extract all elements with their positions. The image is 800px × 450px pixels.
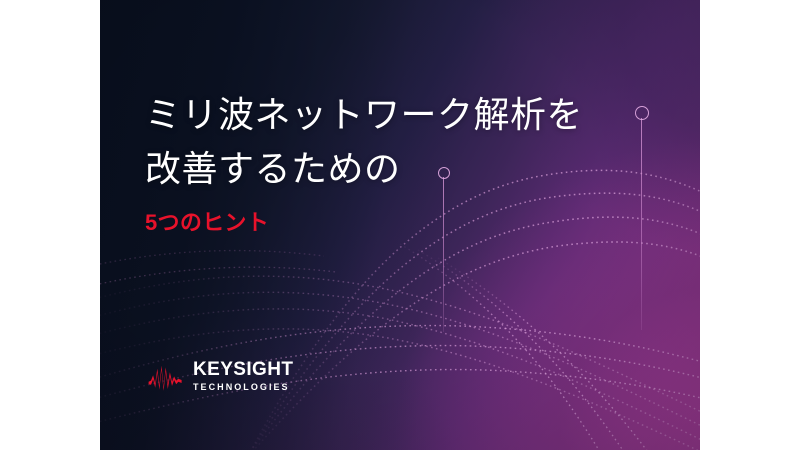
subtitle-text: 5つのヒント (145, 208, 665, 238)
keysight-logo-text: KEYSIGHT TECHNOLOGIES (193, 360, 293, 393)
cover-slide: ミリ波ネットワーク解析を 改善するための 5つのヒント KEYSIGHT TEC… (100, 0, 700, 450)
title-line-2: 改善するための (145, 142, 665, 196)
screenshot-canvas: ミリ波ネットワーク解析を 改善するための 5つのヒント KEYSIGHT TEC… (0, 0, 800, 450)
title-line-1: ミリ波ネットワーク解析を (145, 88, 665, 142)
title-block: ミリ波ネットワーク解析を 改善するための 5つのヒント (145, 88, 665, 238)
keysight-wordmark: KEYSIGHT (193, 360, 293, 380)
keysight-tagline: TECHNOLOGIES (193, 381, 293, 393)
keysight-waveform-icon (148, 363, 184, 391)
keysight-logo: KEYSIGHT TECHNOLOGIES (148, 360, 293, 393)
